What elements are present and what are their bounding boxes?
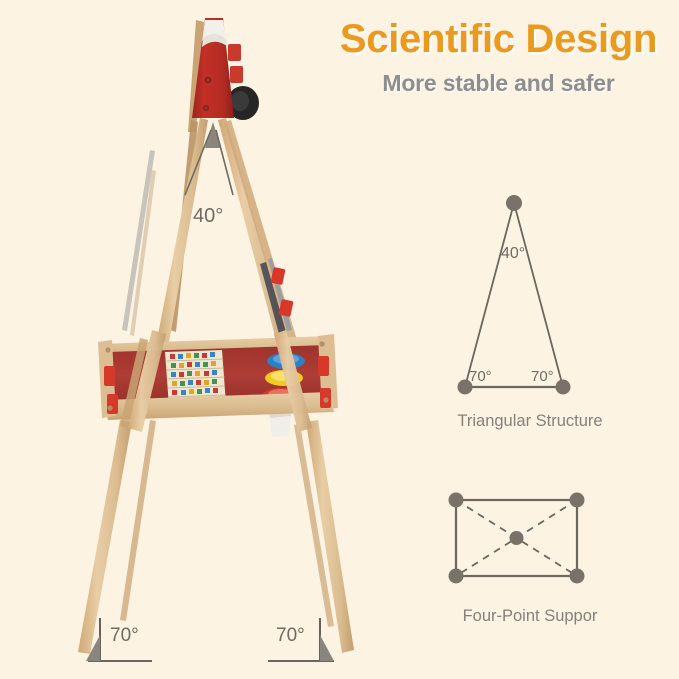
four-point-support-caption: Four-Point Suppor xyxy=(400,607,660,626)
rect-node-bottom-right xyxy=(570,569,585,584)
infographic-canvas: 40° 70° 70° Scientific Design More stabl… xyxy=(0,0,679,679)
rect-node-center xyxy=(510,531,524,545)
rect-node-top-right xyxy=(570,493,585,508)
rect-node-top-left xyxy=(449,493,464,508)
four-point-support-diagram xyxy=(0,0,679,679)
rect-node-bottom-left xyxy=(449,569,464,584)
